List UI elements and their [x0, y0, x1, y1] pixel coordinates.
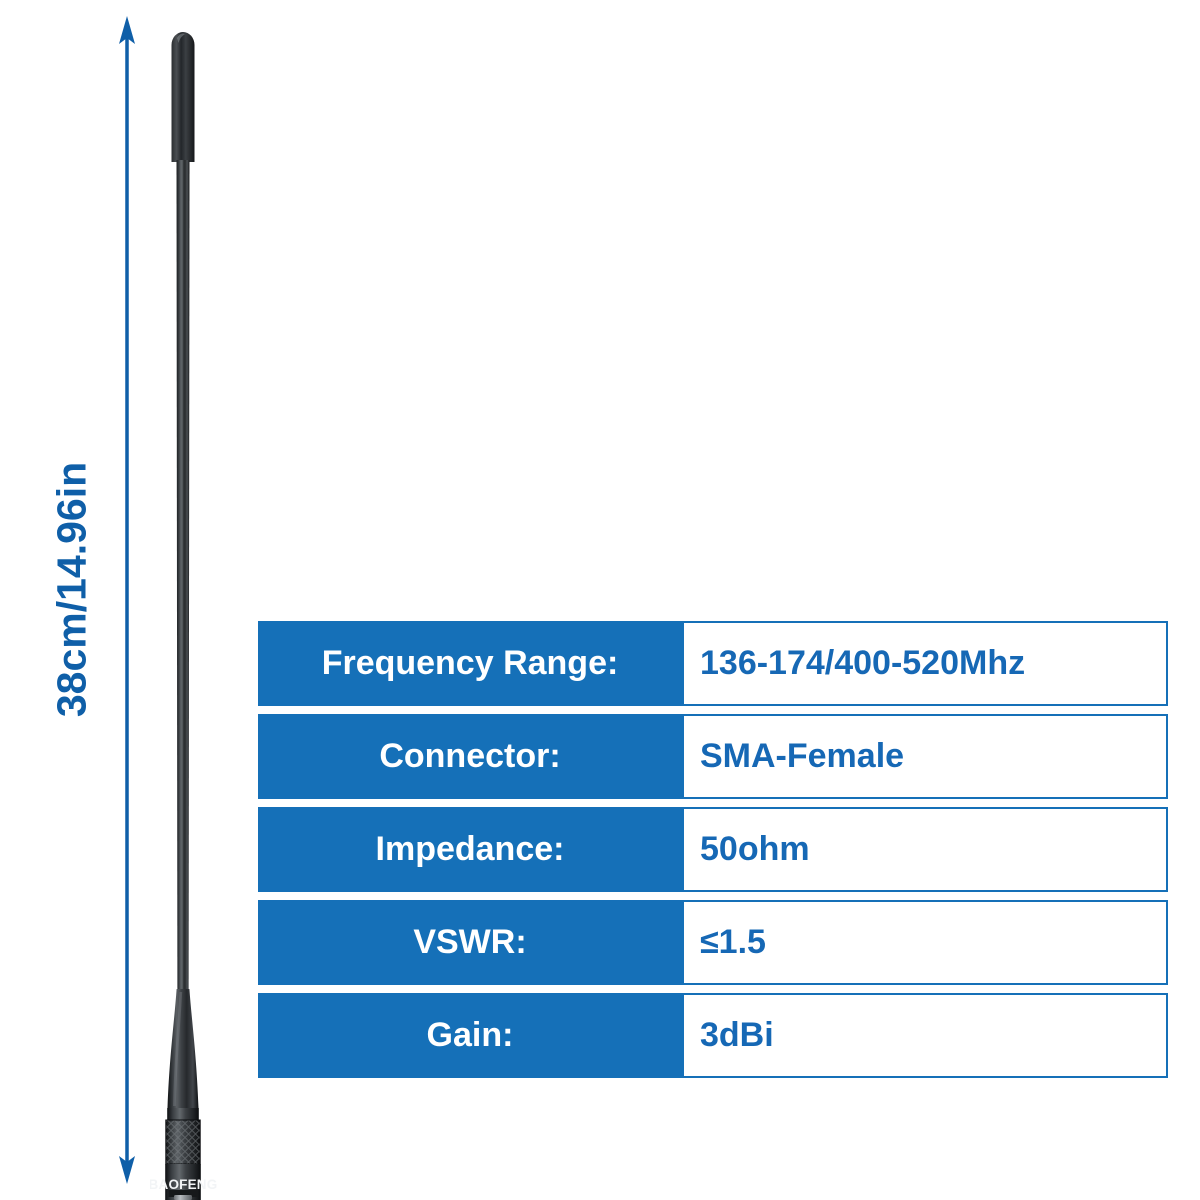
spec-value-connector: SMA-Female: [682, 714, 1168, 799]
sma-connector-pin: [174, 1195, 192, 1200]
spec-value-gain: 3dBi: [682, 993, 1168, 1078]
spec-value-impedance: 50ohm: [682, 807, 1168, 892]
spec-value-frequency-range: 136-174/400-520Mhz: [682, 621, 1168, 706]
table-row: Impedance: 50ohm: [258, 807, 1168, 892]
spec-label-gain: Gain:: [258, 993, 682, 1078]
brand-logo-text: BAOFENG: [150, 1177, 217, 1192]
table-row: Gain: 3dBi: [258, 993, 1168, 1078]
dimension-double-arrow-icon: [104, 14, 150, 1186]
spec-label-frequency-range: Frequency Range:: [258, 621, 682, 706]
spec-label-vswr: VSWR:: [258, 900, 682, 985]
antenna-tip-cap: [172, 32, 195, 162]
antenna-illustration: BAOFENG: [150, 14, 260, 1200]
antenna-upper-collar: [167, 1108, 199, 1120]
product-infographic: 38cm/14.96in: [0, 0, 1200, 1200]
table-row: Connector: SMA-Female: [258, 714, 1168, 799]
specification-table: Frequency Range: 136-174/400-520Mhz Conn…: [258, 621, 1168, 1078]
table-row: VSWR: ≤1.5: [258, 900, 1168, 985]
spec-value-vswr: ≤1.5: [682, 900, 1168, 985]
spec-label-connector: Connector:: [258, 714, 682, 799]
dimension-label: 38cm/14.96in: [49, 440, 96, 740]
table-row: Frequency Range: 136-174/400-520Mhz: [258, 621, 1168, 706]
antenna-base-taper: [168, 989, 199, 1108]
spec-label-impedance: Impedance:: [258, 807, 682, 892]
